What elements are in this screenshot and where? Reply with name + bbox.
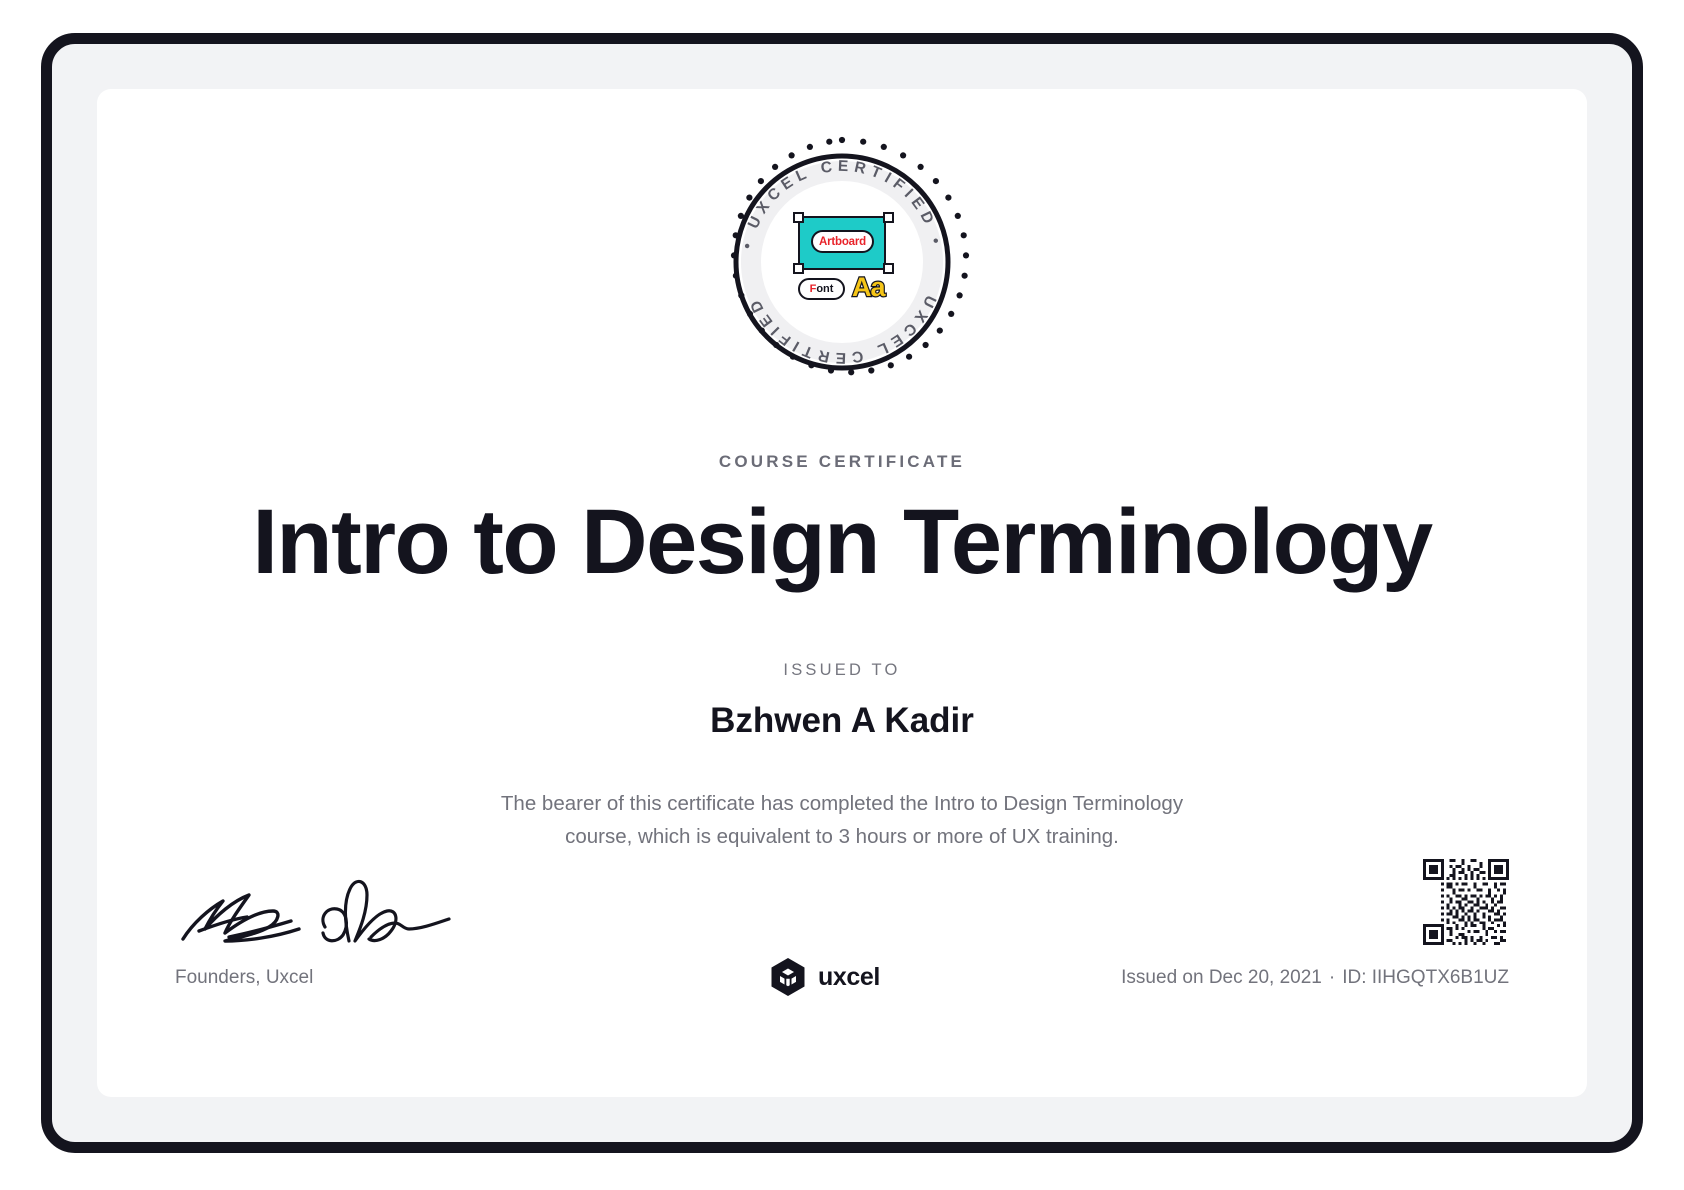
certificate-frame: • UXCEL CERTIFIED • UXCEL CERTIFIED Artb… bbox=[41, 33, 1643, 1153]
verification-qr-code[interactable] bbox=[1423, 859, 1509, 945]
uxcel-logo-icon bbox=[769, 957, 807, 997]
artboard-label-initial: Artboard bbox=[819, 236, 866, 248]
description-line-2: course, which is equivalent to 3 hours o… bbox=[565, 825, 1119, 848]
certificate-description: The bearer of this certificate has compl… bbox=[442, 787, 1242, 853]
artboard-label-pill: Artboard bbox=[811, 230, 874, 253]
resize-handle-top-left-icon bbox=[793, 212, 804, 223]
uxcel-brand: uxcel bbox=[769, 957, 915, 997]
course-title: Intro to Design Terminology bbox=[97, 494, 1587, 591]
issued-to-label: ISSUED TO bbox=[97, 661, 1587, 680]
resize-handle-top-right-icon bbox=[883, 212, 894, 223]
seal-emblem: Artboard Font Aa bbox=[790, 216, 894, 308]
issue-metadata: Issued on Dec 20, 2021·ID: IIHGQTX6B1UZ bbox=[1121, 967, 1509, 989]
issued-on-date: Issued on Dec 20, 2021 bbox=[1121, 967, 1322, 988]
certification-seal: • UXCEL CERTIFIED • UXCEL CERTIFIED Artb… bbox=[713, 133, 971, 391]
certificate-body: • UXCEL CERTIFIED • UXCEL CERTIFIED Artb… bbox=[97, 89, 1587, 1097]
font-label-rest: ont bbox=[816, 283, 833, 295]
recipient-name: Bzhwen A Kadir bbox=[97, 701, 1587, 741]
meta-separator: · bbox=[1322, 967, 1342, 988]
resize-handle-bottom-left-icon bbox=[793, 263, 804, 274]
uxcel-wordmark: uxcel bbox=[818, 963, 880, 992]
font-label-initial: F bbox=[810, 283, 817, 295]
signatory-role: Founders, Uxcel bbox=[175, 967, 313, 989]
qr-code-icon bbox=[1423, 859, 1509, 945]
certificate-kicker: COURSE CERTIFICATE bbox=[97, 452, 1587, 472]
certificate-id: ID: IIHGQTX6B1UZ bbox=[1342, 967, 1509, 988]
font-label-pill: Font bbox=[798, 278, 845, 300]
signature-block bbox=[175, 871, 475, 949]
description-line-1: The bearer of this certificate has compl… bbox=[501, 792, 1183, 815]
handwritten-signatures-icon bbox=[175, 871, 475, 949]
type-sample-aa: Aa bbox=[852, 274, 885, 301]
